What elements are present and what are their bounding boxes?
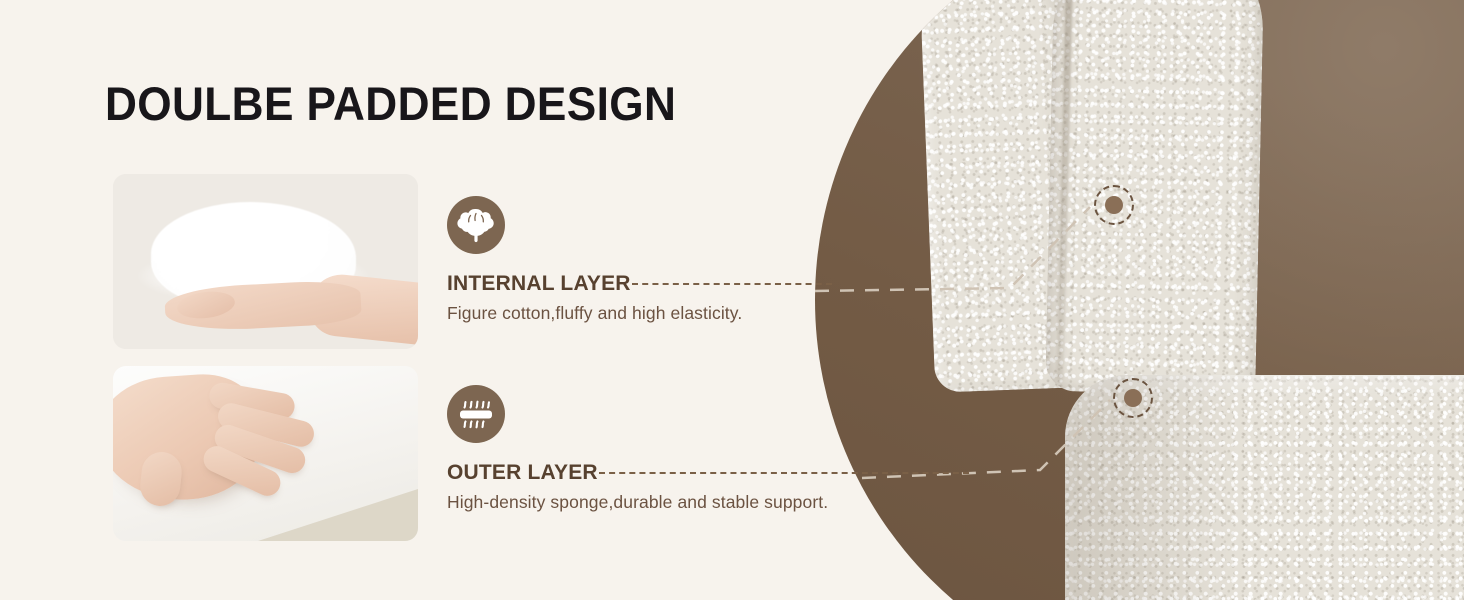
chair-backrest-panel	[1045, 0, 1265, 395]
cotton-boll-icon	[447, 196, 505, 254]
product-feature-banner: DOULBE PADDED DESIGN	[0, 0, 1464, 600]
feature-title-row: OUTER LAYER	[447, 461, 969, 485]
marker-dot-icon	[1124, 389, 1142, 407]
page-title: DOULBE PADDED DESIGN	[105, 76, 676, 131]
sponge-breathability-icon	[447, 385, 505, 443]
feature-title: INTERNAL LAYER	[447, 272, 631, 296]
feature-dash-line	[599, 472, 969, 474]
marker-dot-icon	[1105, 196, 1123, 214]
photo-card-cotton-fill	[113, 174, 418, 349]
feature-title: OUTER LAYER	[447, 461, 598, 485]
chair-arm-shadow	[1065, 375, 1245, 600]
feature-outer-layer: OUTER LAYER High-density sponge,durable …	[447, 385, 969, 513]
sponge-shadow-wedge	[258, 489, 418, 541]
feature-description: Figure cotton,fluffy and high elasticity…	[447, 303, 832, 324]
sponge-photo	[113, 366, 418, 541]
photo-card-sponge	[113, 366, 418, 541]
feature-internal-layer: INTERNAL LAYER Figure cotton,fluffy and …	[447, 196, 832, 324]
cotton-photo	[113, 174, 418, 349]
feature-dash-line	[632, 283, 832, 285]
feature-description: High-density sponge,durable and stable s…	[447, 492, 969, 513]
internal-layer-marker	[1094, 185, 1134, 225]
feature-title-row: INTERNAL LAYER	[447, 272, 832, 296]
outer-layer-marker	[1113, 378, 1153, 418]
